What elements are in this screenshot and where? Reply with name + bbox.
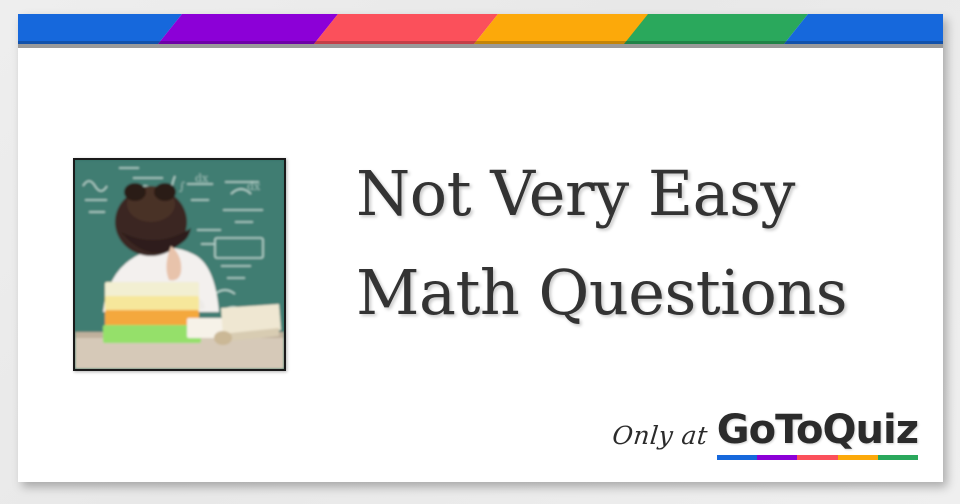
page-title-line-1: Not Very Easy: [356, 144, 916, 243]
page-root: ∫ dx dx: [0, 0, 960, 504]
branding-footer[interactable]: Only at GoToQuiz: [612, 410, 918, 460]
page-title: Not Very Easy Math Questions: [356, 144, 916, 342]
gotoquiz-logo[interactable]: GoToQuiz: [717, 410, 918, 460]
logo-bar-segment-red: [797, 455, 837, 460]
svg-text:∫: ∫: [179, 180, 185, 193]
logo-bar-segment-blue: [717, 455, 757, 460]
chalkboard-student-illustration: ∫ dx dx: [75, 160, 284, 369]
logo-bar-segment-purple: [757, 455, 797, 460]
svg-text:dx: dx: [247, 180, 261, 193]
only-at-label: Only at: [610, 421, 709, 460]
svg-text:dx: dx: [195, 172, 209, 185]
banner-underline-rule: [18, 44, 943, 48]
page-title-line-2: Math Questions: [356, 243, 916, 342]
gotoquiz-logo-color-bar: [717, 455, 918, 460]
gotoquiz-wordmark[interactable]: GoToQuiz: [717, 410, 918, 450]
rainbow-stripe-banner: [18, 14, 943, 44]
logo-bar-segment-green: [878, 455, 918, 460]
quiz-result-card: ∫ dx dx: [18, 14, 943, 482]
quiz-thumbnail[interactable]: ∫ dx dx: [73, 158, 286, 371]
logo-bar-segment-orange: [838, 455, 878, 460]
